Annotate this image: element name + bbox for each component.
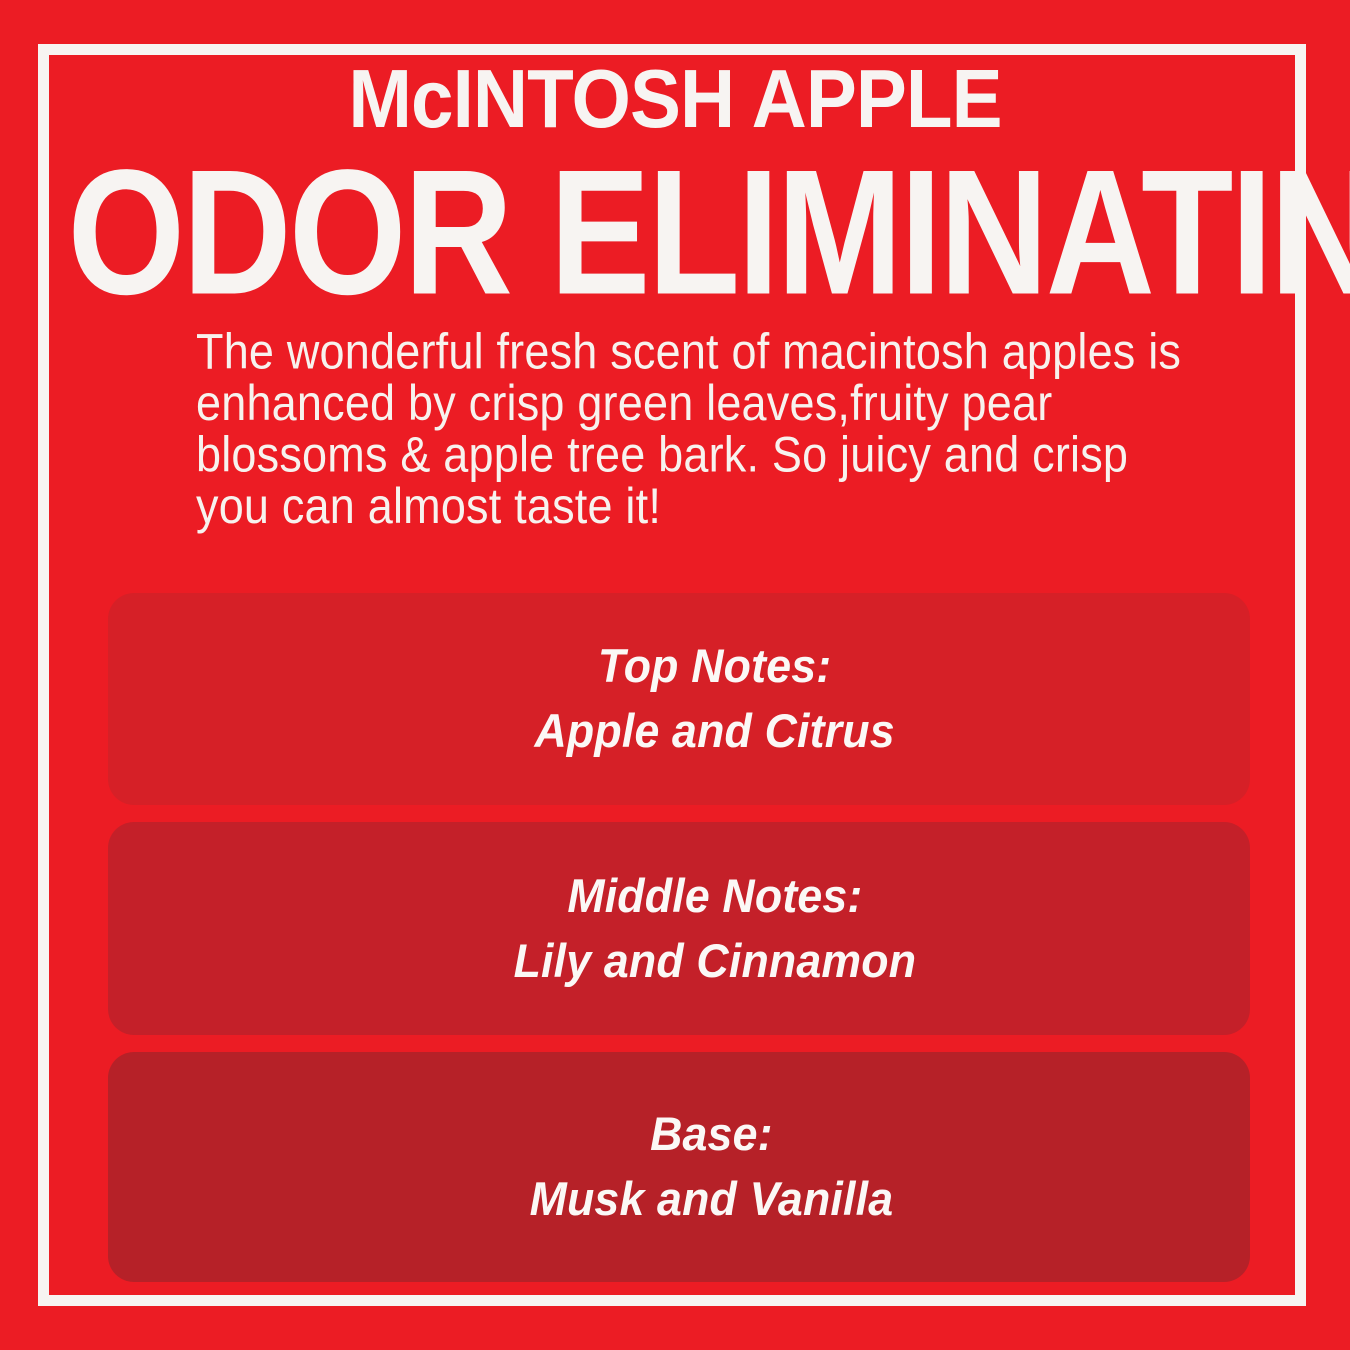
scent-note-label-top: Top Notes:: [535, 634, 895, 699]
scent-note-card-base: Base: Musk and Vanilla: [108, 1052, 1250, 1282]
scent-note-card-top: Top Notes: Apple and Citrus: [108, 593, 1250, 805]
scent-note-value-top: Apple and Citrus: [535, 699, 895, 764]
poster-content: McINTOSH APPLE ODOR ELIMINATING The wond…: [0, 0, 1350, 1350]
scent-note-value-middle: Lily and Cinnamon: [514, 929, 917, 994]
product-name-kicker: McINTOSH APPLE: [54, 58, 1296, 139]
scent-note-label-middle: Middle Notes:: [514, 864, 917, 929]
scent-note-text-top: Top Notes: Apple and Citrus: [535, 634, 895, 764]
scent-note-value-base: Musk and Vanilla: [529, 1167, 893, 1232]
scent-note-text-middle: Middle Notes: Lily and Cinnamon: [514, 864, 917, 994]
page-title: ODOR ELIMINATING: [68, 143, 1283, 321]
scent-note-label-base: Base:: [529, 1102, 893, 1167]
scent-note-card-middle: Middle Notes: Lily and Cinnamon: [108, 822, 1250, 1035]
product-description: The wonderful fresh scent of macintosh a…: [196, 326, 1196, 532]
scent-note-text-base: Base: Musk and Vanilla: [529, 1102, 893, 1232]
product-scent-poster: McINTOSH APPLE ODOR ELIMINATING The wond…: [0, 0, 1350, 1350]
scent-notes-list: Top Notes: Apple and Citrus Middle Notes…: [108, 593, 1250, 1282]
